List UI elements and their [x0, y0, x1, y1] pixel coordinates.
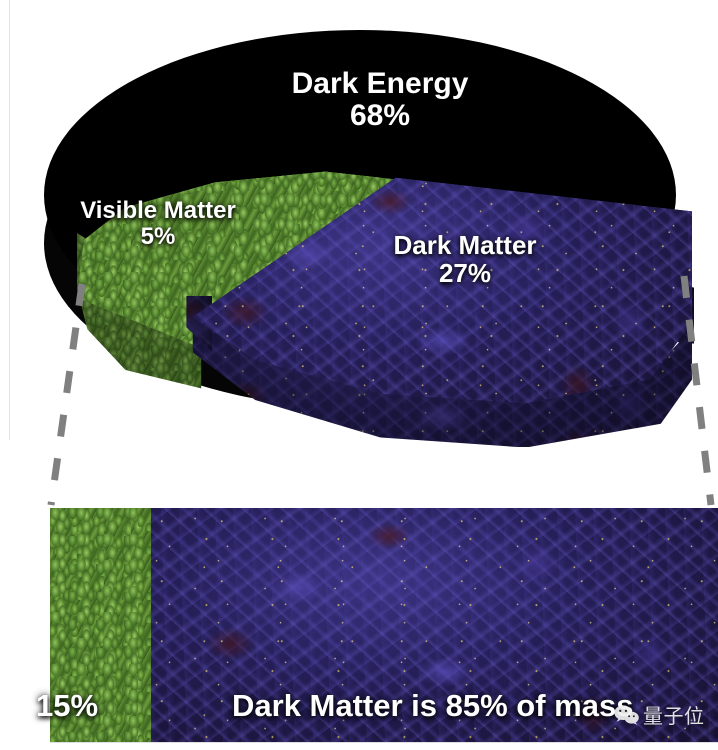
watermark: 量子位 — [614, 700, 705, 729]
slice-label-dark-energy-name: Dark Energy — [292, 67, 469, 100]
slice-label-visible-matter: Visible Matter 5% — [38, 198, 278, 249]
slice-label-visible-matter-value: 5% — [38, 224, 278, 250]
slice-label-visible-matter-name: Visible Matter — [80, 197, 236, 224]
inset-bottom-rule — [50, 742, 718, 743]
slice-label-dark-matter: Dark Matter 27% — [345, 232, 585, 288]
slice-label-dark-matter-value: 27% — [345, 260, 585, 288]
slice-label-dark-matter-name: Dark Matter — [393, 230, 536, 260]
inset-caption: Dark Matter is 85% of mass — [232, 688, 633, 724]
slice-label-dark-energy: Dark Energy 68% — [225, 68, 535, 132]
slice-label-dark-energy-value: 68% — [225, 100, 535, 132]
inset-label-visible-percent: 15% — [36, 688, 98, 724]
wechat-icon — [614, 704, 640, 726]
watermark-text: 量子位 — [643, 700, 705, 729]
pie-chart-panel: Dark Energy 68% Visible Matter 5% Dark M… — [0, 0, 718, 447]
panel-left-border — [9, 0, 10, 440]
